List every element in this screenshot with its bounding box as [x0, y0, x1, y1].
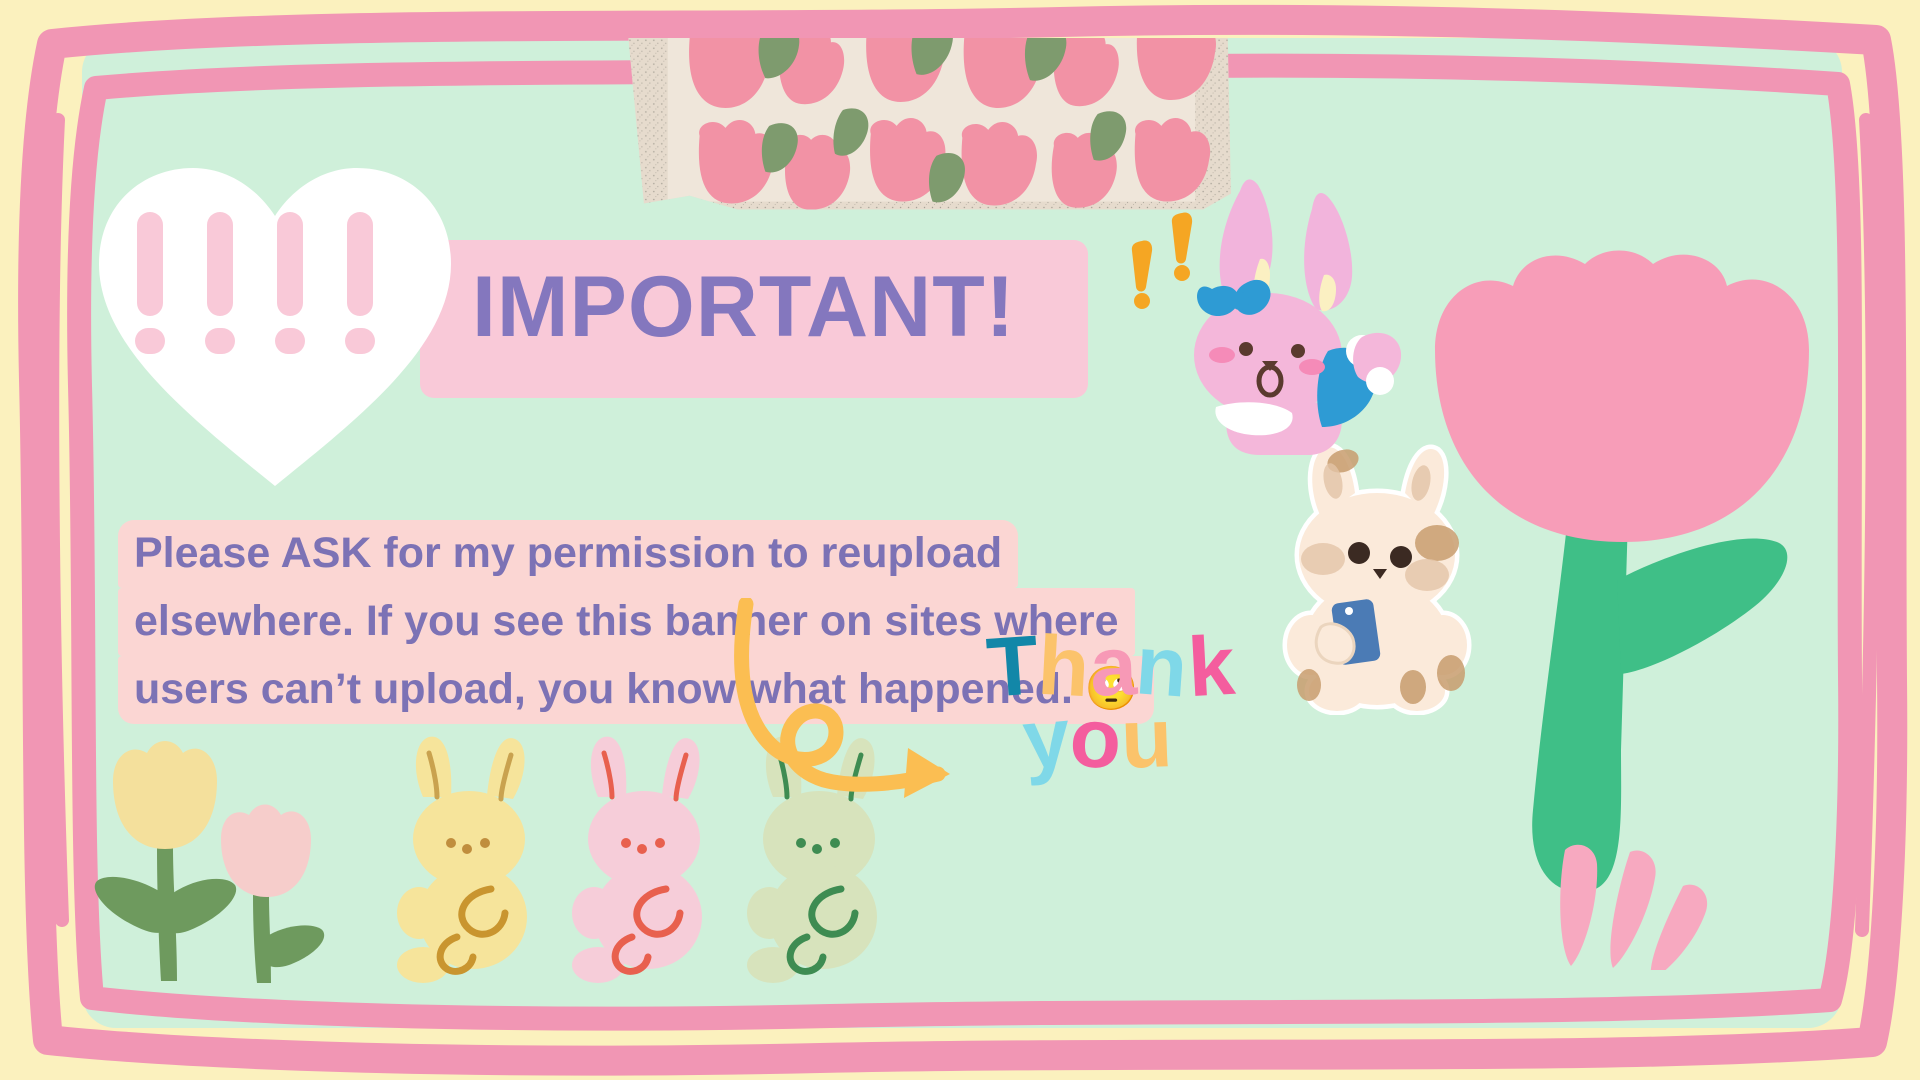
thankyou-letter: k — [1186, 629, 1236, 704]
washi-tape-tulip-pattern — [620, 38, 1237, 216]
small-tulip-icon — [85, 735, 355, 985]
bunny-icon — [572, 737, 702, 983]
bunny-with-phone-sticker — [1265, 435, 1495, 715]
heart-icon — [95, 160, 455, 490]
thankyou-letter: u — [1120, 701, 1174, 775]
thankyou-letter: y — [1020, 700, 1073, 776]
exclamation-mark-icon — [1132, 212, 1192, 309]
curved-arrow-icon — [732, 598, 992, 818]
banner-root: IMPORTANT! Please ASK for my permission … — [0, 0, 1920, 1080]
bunny-icon — [397, 737, 527, 983]
page-title: IMPORTANT! — [472, 258, 1015, 357]
thankyou-letter: o — [1068, 701, 1123, 776]
body-line: Please ASK for my permission to reupload — [118, 520, 1018, 588]
thank-you-lettering: Thank you — [987, 630, 1297, 810]
